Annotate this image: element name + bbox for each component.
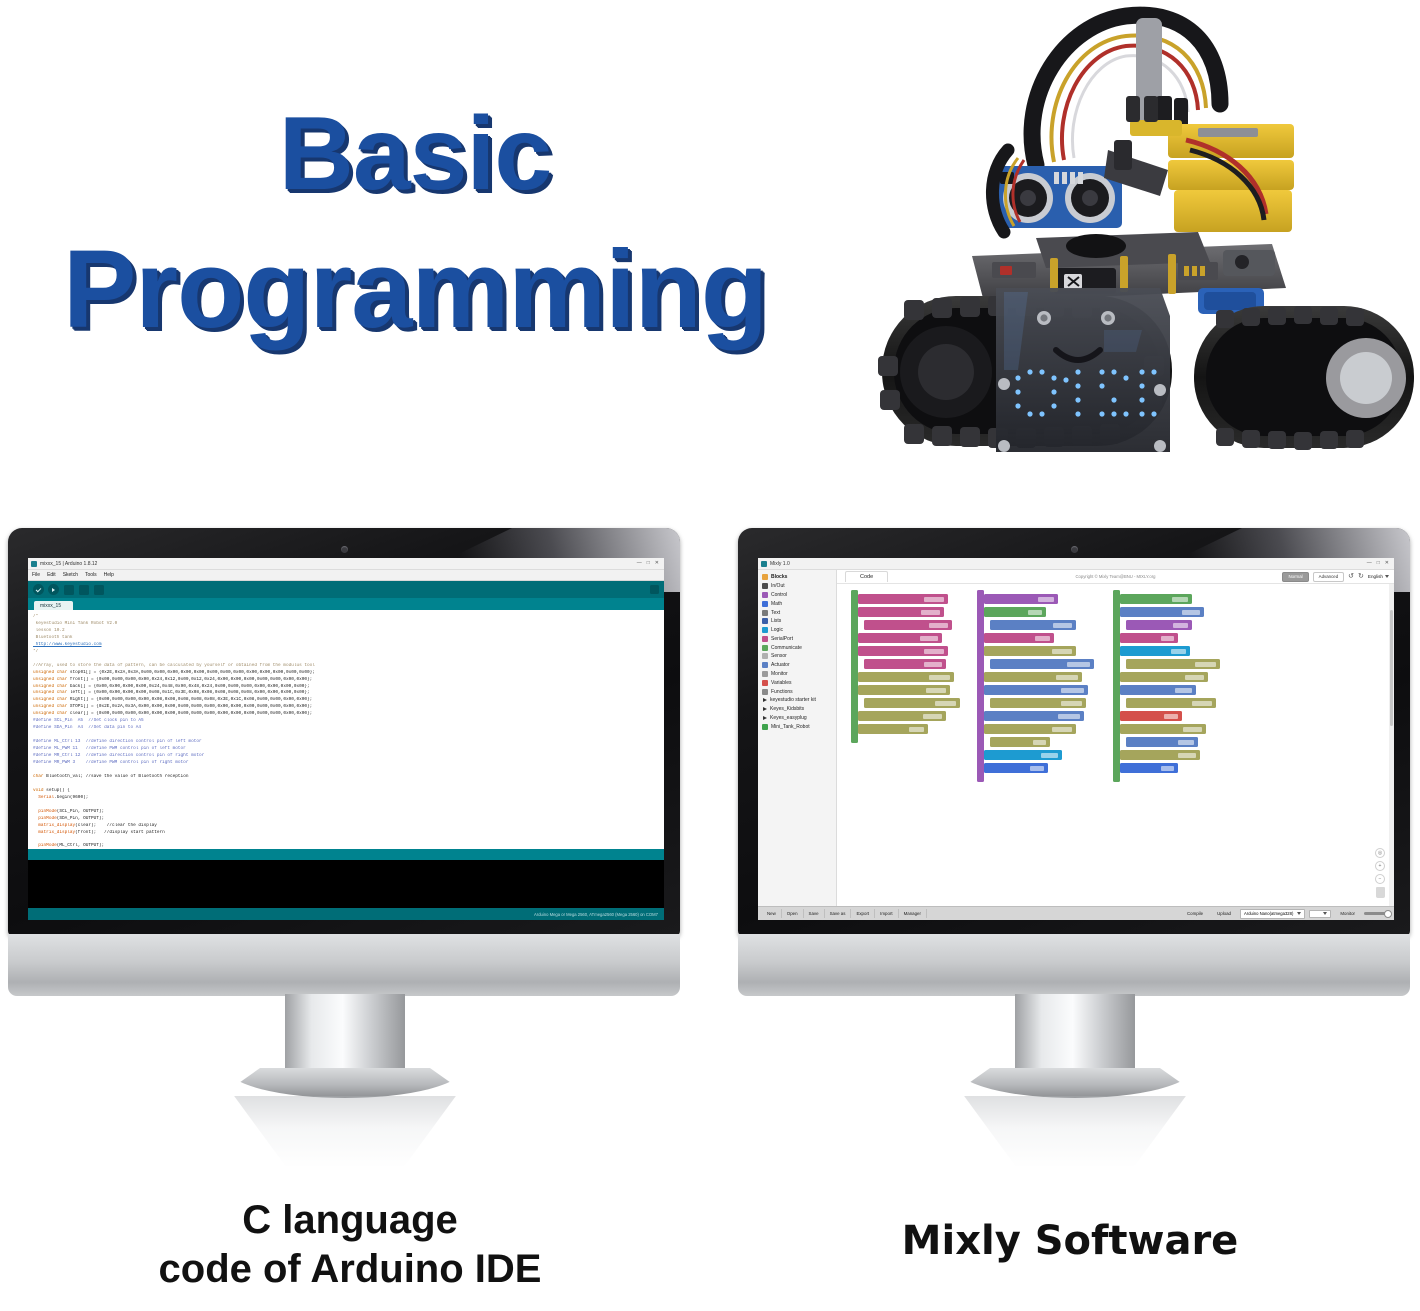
block-spine <box>851 590 858 743</box>
mixly-footer-toolbar[interactable]: NewOpenSaveSave asExportImportManager Co… <box>758 906 1394 920</box>
sidebar-item-keyes-easyplug[interactable]: Keyes_easyplug <box>758 714 836 723</box>
category-color-icon <box>762 610 768 616</box>
block[interactable] <box>858 672 954 682</box>
ide-window-controls[interactable]: — □ ✕ <box>637 561 661 566</box>
board-select[interactable]: Arduino Nano(atmega328) <box>1240 909 1305 919</box>
monitor-neck-left <box>285 994 405 1076</box>
block[interactable] <box>1120 685 1196 695</box>
sidebar-item-keyestudio-starter-kit[interactable]: keyestudio starter kit <box>758 696 836 705</box>
zoom-out-icon[interactable]: − <box>1375 874 1385 884</box>
mixly-monitor: Mixly 1.0 — □ ✕ BlocksIn/OutControlMathT… <box>730 528 1420 1168</box>
block[interactable] <box>984 672 1082 682</box>
monitor-button[interactable]: Monitor <box>1335 909 1360 918</box>
code-line: //Array, used to store the data of patte… <box>33 663 659 670</box>
sidebar-item-in-out[interactable]: In/Out <box>758 582 836 591</box>
category-color-icon <box>762 689 768 695</box>
block-spine <box>1113 590 1120 782</box>
caption-left-line2: code of Arduino IDE <box>0 1245 700 1294</box>
category-color-icon <box>762 671 768 677</box>
language-dropdown[interactable]: English <box>1368 574 1389 579</box>
sidebar-item-label: Sensor <box>771 653 787 659</box>
code-line: unsigned char Right[] = {0x00,0x00,0x00,… <box>33 697 659 704</box>
code-line: keyestudio Mini Tank Robot V2.0 <box>33 621 659 628</box>
footer-button-open[interactable]: Open <box>782 909 804 918</box>
block[interactable] <box>1126 620 1192 630</box>
maximize-icon[interactable]: □ <box>1377 561 1380 566</box>
category-color-icon <box>762 653 768 659</box>
mixly-topbar[interactable]: Code Copyright © Mixly Team@BNU - MIXLY.… <box>837 570 1394 584</box>
block[interactable] <box>858 646 948 656</box>
block[interactable] <box>864 620 952 630</box>
block[interactable] <box>990 737 1050 747</box>
block[interactable] <box>984 607 1046 617</box>
code-editor[interactable]: /* keyestudio Mini Tank Robot V2.0 lesso… <box>28 610 664 849</box>
sidebar-item-label: keyestudio starter kit <box>770 697 816 703</box>
block-spine <box>977 590 984 782</box>
port-select[interactable] <box>1309 910 1331 918</box>
sidebar-item-label: Lists <box>771 618 781 624</box>
caption-left: C language code of Arduino IDE <box>0 1196 700 1294</box>
footer-button-import[interactable]: Import <box>875 909 898 918</box>
sidebar-item-label: Logic <box>771 627 783 633</box>
code-line: lesson 10.2 <box>33 628 659 635</box>
footer-button-save-as[interactable]: Save as <box>825 909 852 918</box>
monitor-base-right <box>957 1068 1193 1098</box>
block[interactable] <box>1126 737 1198 747</box>
arduino-ide-monitor: mixxx_15 | Arduino 1.8.12 — □ ✕ File Edi… <box>0 528 690 1168</box>
block[interactable] <box>984 685 1088 695</box>
caption-right: Mixly Software <box>720 1218 1420 1264</box>
menu-file[interactable]: File <box>32 572 40 578</box>
screen-left: mixxx_15 | Arduino 1.8.12 — □ ✕ File Edi… <box>28 558 664 920</box>
category-color-icon <box>762 662 768 668</box>
code-line: matrix_display(front); //display start p… <box>33 830 659 837</box>
mixly-main: Code Copyright © Mixly Team@BNU - MIXLY.… <box>837 570 1394 906</box>
compile-button[interactable]: Compile <box>1182 909 1208 918</box>
sidebar-item-label: Control <box>771 592 787 598</box>
tab-code[interactable]: Code <box>845 571 888 582</box>
webcam-icon <box>1071 546 1078 553</box>
canvas-tools[interactable]: ◎ + − <box>1375 848 1385 898</box>
category-color-icon <box>762 680 768 686</box>
block[interactable] <box>864 659 946 669</box>
ide-title-bar: mixxx_15 | Arduino 1.8.12 — □ ✕ <box>28 558 664 570</box>
webcam-icon <box>341 546 348 553</box>
code-line: #define SCL_Pin A5 //Set clock pin to A5 <box>33 718 659 725</box>
screen-right: Mixly 1.0 — □ ✕ BlocksIn/OutControlMathT… <box>758 558 1394 920</box>
sidebar-item-logic[interactable]: Logic <box>758 626 836 635</box>
redo-arrow-icon[interactable]: ↻ <box>1358 573 1364 580</box>
block[interactable] <box>984 594 1058 604</box>
sidebar-item-label: In/Out <box>771 583 785 589</box>
footer-button-export[interactable]: Export <box>851 909 875 918</box>
arduino-app-icon <box>31 561 37 567</box>
code-line: pinMode(SDA_Pin, OUTPUT); <box>33 816 659 823</box>
mode-advanced-button[interactable]: Advanced <box>1313 572 1345 582</box>
board-status-text: Arduino Mega or Mega 2560, ATmega2560 (M… <box>534 912 658 917</box>
code-line: pinMode(SCL_Pin, OUTPUT); <box>33 809 659 816</box>
sidebar-item-label: Variables <box>771 680 791 686</box>
block[interactable] <box>1120 594 1192 604</box>
code-line <box>33 732 659 739</box>
board-select-value: Arduino Nano(atmega328) <box>1244 911 1293 916</box>
block[interactable] <box>984 646 1076 656</box>
mixly-title-bar: Mixly 1.0 — □ ✕ <box>758 558 1394 570</box>
code-line <box>33 837 659 844</box>
block[interactable] <box>858 724 928 734</box>
sidebar-item-text[interactable]: Text <box>758 608 836 617</box>
ide-toolbar[interactable] <box>28 581 664 598</box>
zoom-in-icon[interactable]: + <box>1375 861 1385 871</box>
sidebar-item-lists[interactable]: Lists <box>758 617 836 626</box>
blocks-canvas[interactable]: ◎ + − <box>837 584 1394 906</box>
menu-sketch[interactable]: Sketch <box>63 572 78 578</box>
sidebar-item-label: Keyes_easyplug <box>770 715 807 721</box>
mode-normal-button[interactable]: Normal <box>1282 572 1308 582</box>
code-line: */ <box>33 649 659 656</box>
mixly-body: BlocksIn/OutControlMathTextListsLogicSer… <box>758 570 1394 906</box>
new-sketch-button[interactable] <box>64 585 74 595</box>
sidebar-item-label: Blocks <box>771 574 787 580</box>
block[interactable] <box>858 711 946 721</box>
sidebar-item-control[interactable]: Control <box>758 591 836 600</box>
code-line: unsigned char stop01[] = {0x2E,0x2A,0x3A… <box>33 670 659 677</box>
close-icon[interactable]: ✕ <box>655 561 659 566</box>
code-line: #define SDA_Pin A4 //Set data pin to A4 <box>33 725 659 732</box>
menu-tools[interactable]: Tools <box>85 572 97 578</box>
monitor-bezel-right: Mixly 1.0 — □ ✕ BlocksIn/OutControlMathT… <box>738 528 1410 936</box>
sidebar-item-label: Text <box>771 610 780 616</box>
category-color-icon <box>762 724 768 730</box>
ide-console <box>28 860 664 908</box>
chevron-right-icon <box>763 698 767 702</box>
category-color-icon <box>762 618 768 624</box>
code-line: Serial.begin(9600); <box>33 795 659 802</box>
mixly-window-controls[interactable]: — □ ✕ <box>1367 561 1391 566</box>
block[interactable] <box>990 659 1094 669</box>
mixly-sidebar[interactable]: BlocksIn/OutControlMathTextListsLogicSer… <box>758 570 837 906</box>
code-line <box>33 656 659 663</box>
category-color-icon <box>762 574 768 580</box>
baud-slider[interactable] <box>1364 912 1390 915</box>
chevron-right-icon <box>763 716 767 720</box>
code-line: #define MR_PWM 3 //define PWM control pi… <box>33 760 659 767</box>
minimize-icon[interactable]: — <box>1367 561 1372 566</box>
block[interactable] <box>858 594 948 604</box>
category-color-icon <box>762 592 768 598</box>
sidebar-item-serialport[interactable]: SerialPort <box>758 634 836 643</box>
code-line: #define ML_Ctrl 13 //define direction co… <box>33 739 659 746</box>
sidebar-item-keyes-kidsbits[interactable]: Keyes_Kidsbits <box>758 705 836 714</box>
block[interactable] <box>1120 672 1208 682</box>
sidebar-item-label: Keyes_Kidsbits <box>770 706 804 712</box>
block[interactable] <box>858 633 942 643</box>
block[interactable] <box>1120 750 1200 760</box>
sidebar-item-sensor[interactable]: Sensor <box>758 652 836 661</box>
block[interactable] <box>1126 659 1220 669</box>
sidebar-item-variables[interactable]: Variables <box>758 678 836 687</box>
category-color-icon <box>762 636 768 642</box>
block[interactable] <box>858 607 944 617</box>
block[interactable] <box>1120 724 1206 734</box>
code-line: #define MR_Ctrl 12 //define direction co… <box>33 753 659 760</box>
chevron-right-icon <box>763 707 767 711</box>
verify-button[interactable] <box>33 584 44 595</box>
mixly-app-icon <box>761 561 767 567</box>
menu-help[interactable]: Help <box>104 572 114 578</box>
sidebar-item-functions[interactable]: Functions <box>758 687 836 696</box>
save-sketch-button[interactable] <box>94 585 104 595</box>
sidebar-item-math[interactable]: Math <box>758 599 836 608</box>
sidebar-item-blocks[interactable]: Blocks <box>758 573 836 582</box>
copyright-text: Copyright © Mixly Team@BNU - MIXLY.org <box>1076 574 1156 579</box>
block[interactable] <box>858 685 950 695</box>
block[interactable] <box>1120 646 1190 656</box>
block[interactable] <box>984 724 1076 734</box>
code-line <box>33 781 659 788</box>
minimize-icon[interactable]: — <box>637 561 642 566</box>
monitor-bezel-left: mixxx_15 | Arduino 1.8.12 — □ ✕ File Edi… <box>8 528 680 936</box>
sidebar-item-label: Mini_Tank_Robot <box>771 724 810 730</box>
code-line <box>33 767 659 774</box>
trash-icon[interactable] <box>1376 887 1385 898</box>
ide-window-title: mixxx_15 | Arduino 1.8.12 <box>40 561 97 567</box>
category-color-icon <box>762 627 768 633</box>
code-line: char Bluetooth_val; //save the value of … <box>33 774 659 781</box>
monitor-chin-left <box>8 934 680 996</box>
code-line: void setup() { <box>33 788 659 795</box>
sidebar-item-label: Functions <box>771 689 793 695</box>
sidebar-item-mini-tank-robot[interactable]: Mini_Tank_Robot <box>758 722 836 731</box>
block[interactable] <box>1120 763 1178 773</box>
title-line-2: Programming <box>0 228 830 351</box>
category-color-icon <box>762 583 768 589</box>
sidebar-item-communicate[interactable]: Communicate <box>758 643 836 652</box>
monitor-reflection-left <box>213 1096 477 1168</box>
language-label: English <box>1368 574 1383 579</box>
mini-tank-robot-photo <box>868 0 1420 512</box>
maximize-icon[interactable]: □ <box>647 561 650 566</box>
code-line: unsigned char clear[] = {0x00,0x00,0x00,… <box>33 711 659 718</box>
sidebar-item-label: Communicate <box>771 645 802 651</box>
mixly-footer-right[interactable]: Compile Upload Arduino Nano(atmega328) M… <box>1182 909 1390 919</box>
sidebar-item-label: SerialPort <box>771 636 793 642</box>
open-sketch-button[interactable] <box>79 585 89 595</box>
chevron-down-icon <box>1297 912 1301 915</box>
serial-monitor-button[interactable] <box>650 585 659 594</box>
code-line: /* <box>33 614 659 621</box>
sidebar-item-monitor[interactable]: Monitor <box>758 670 836 679</box>
mixly-window: Mixly 1.0 — □ ✕ BlocksIn/OutControlMathT… <box>758 558 1394 920</box>
code-line: unsigned char back[] = {0x00,0x00,0x00,0… <box>33 684 659 691</box>
block[interactable] <box>984 763 1048 773</box>
code-line: Bluetooth tank <box>33 635 659 642</box>
footer-button-new[interactable]: New <box>762 909 782 918</box>
canvas-scrollbar[interactable] <box>1389 584 1394 906</box>
block[interactable] <box>984 633 1054 643</box>
close-icon[interactable]: ✕ <box>1385 561 1389 566</box>
code-line: http://www.keyestudio.com <box>33 642 659 649</box>
chevron-down-icon <box>1385 575 1389 578</box>
code-line: #define ML_PWM 11 //define PWM control p… <box>33 746 659 753</box>
block[interactable] <box>1120 711 1182 721</box>
title-line-1: Basic <box>0 96 830 212</box>
sidebar-item-label: Actuator <box>771 662 790 668</box>
category-color-icon <box>762 645 768 651</box>
footer-button-manager[interactable]: Manager <box>899 909 927 918</box>
block[interactable] <box>990 620 1076 630</box>
chevron-down-icon <box>1323 912 1327 915</box>
block[interactable] <box>990 698 1086 708</box>
code-line: unsigned char STOP1[] = {0x2E,0x2A,0x3A,… <box>33 704 659 711</box>
sidebar-item-actuator[interactable]: Actuator <box>758 661 836 670</box>
block[interactable] <box>864 698 960 708</box>
sidebar-item-label: Math <box>771 601 782 607</box>
ide-tab-bar[interactable]: mixxx_15 <box>28 598 664 610</box>
ide-menu-bar[interactable]: File Edit Sketch Tools Help <box>28 570 664 581</box>
ide-board-status: Arduino Mega or Mega 2560, ATmega2560 (M… <box>28 908 664 920</box>
monitor-reflection-right <box>943 1096 1207 1168</box>
mixly-window-title: Mixly 1.0 <box>770 561 790 567</box>
block[interactable] <box>984 711 1084 721</box>
upload-button[interactable]: Upload <box>1212 909 1236 918</box>
monitor-chin-right <box>738 934 1410 996</box>
category-color-icon <box>762 601 768 607</box>
mixly-topbar-right[interactable]: Normal Advanced ↺ ↻ English <box>1282 572 1394 582</box>
center-blocks-icon[interactable]: ◎ <box>1375 848 1385 858</box>
code-line: unsigned char front[] = {0x00,0x00,0x00,… <box>33 677 659 684</box>
code-line <box>33 802 659 809</box>
block[interactable] <box>1126 698 1216 708</box>
hero-title: Basic Programming <box>0 96 830 352</box>
block[interactable] <box>984 750 1062 760</box>
caption-left-line1: C language <box>0 1196 700 1245</box>
upload-button[interactable] <box>48 584 59 595</box>
undo-arrow-icon[interactable]: ↺ <box>1348 573 1354 580</box>
monitor-base-left <box>227 1068 463 1098</box>
footer-button-save[interactable]: Save <box>804 909 825 918</box>
code-line: matrix_display(clear); //clear the displ… <box>33 823 659 830</box>
code-line: unsigned char left[] = {0x00,0x00,0x00,0… <box>33 690 659 697</box>
monitor-neck-right <box>1015 994 1135 1076</box>
sketch-tab[interactable]: mixxx_15 <box>34 601 73 610</box>
block[interactable] <box>1120 633 1178 643</box>
menu-edit[interactable]: Edit <box>47 572 56 578</box>
block[interactable] <box>1120 607 1204 617</box>
sidebar-item-label: Monitor <box>771 671 788 677</box>
ide-status-bar <box>28 849 664 860</box>
arduino-ide-window: mixxx_15 | Arduino 1.8.12 — □ ✕ File Edi… <box>28 558 664 920</box>
